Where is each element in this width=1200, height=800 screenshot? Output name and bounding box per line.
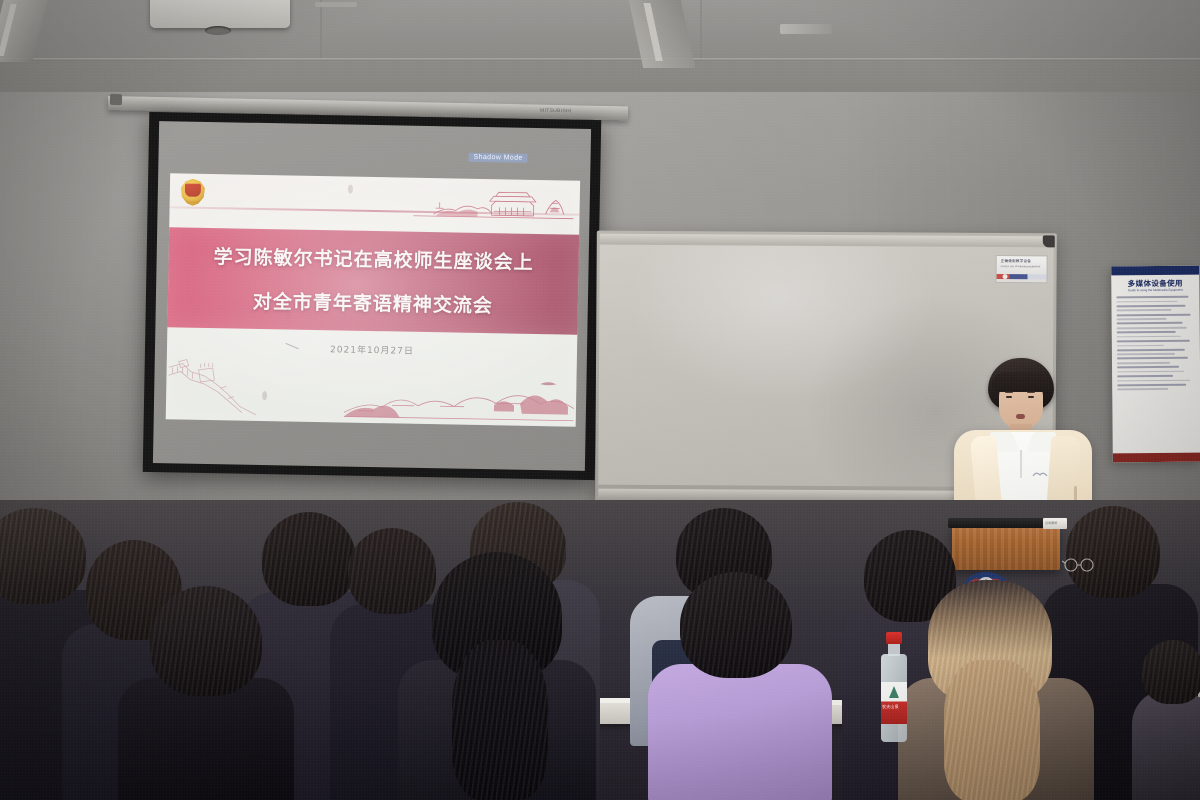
poster-subtitle: Guide to using the Multimedia Equipment	[1111, 288, 1199, 293]
attendee-head	[1142, 640, 1200, 704]
screen-mount-bracket	[110, 94, 122, 105]
screen-brand-label: MITSUBISHI	[540, 108, 572, 115]
attendee-head	[348, 528, 436, 614]
whiteboard-instruction-label: 正确使用教学设备 Correct use of teaching equipme…	[996, 255, 1048, 283]
attendee-head	[680, 572, 792, 678]
attendee-lavender-jacket	[648, 664, 832, 800]
podium-control-panel: 控制面板	[1043, 518, 1067, 529]
projector-screen: Shadow Mode	[143, 112, 602, 480]
attendee-body	[1132, 690, 1200, 800]
attendee-body	[118, 678, 294, 800]
bottle-cap	[886, 632, 902, 644]
eyeglasses-icon	[1062, 556, 1096, 574]
slide-header	[169, 173, 580, 225]
slide-footer	[166, 343, 577, 427]
mountain-landscape-icon	[344, 371, 575, 425]
screen-watermark: Shadow Mode	[468, 153, 527, 163]
ceiling-light-fixture	[780, 24, 832, 34]
great-wall-icon	[168, 353, 289, 417]
ceiling-projector	[150, 0, 290, 28]
attendee-head	[150, 586, 262, 696]
screen-surface: Shadow Mode	[153, 121, 591, 471]
attendee-head	[262, 512, 356, 606]
classroom-photo: MITSUBISHI Shadow Mode	[0, 0, 1200, 800]
podium	[952, 526, 1060, 570]
communist-youth-league-emblem-icon	[180, 178, 206, 205]
poster-body-text	[1116, 296, 1195, 451]
attendee-blonde-hair-length	[944, 660, 1040, 800]
projector-lens-icon	[205, 26, 231, 35]
slide-title-line-1: 学习陈敏尔书记在高校师生座谈会上	[168, 241, 578, 276]
multimedia-equipment-poster: 多媒体设备使用 Guide to using the Multimedia Eq…	[1111, 266, 1200, 463]
attendee-head	[1066, 506, 1160, 598]
presentation-slide: 学习陈敏尔书记在高校师生座谈会上 对全市青年寄语精神交流会 2021年10月27…	[166, 173, 580, 426]
water-bottle: 农夫山泉	[880, 632, 908, 744]
polo-chest-logo-icon	[1032, 470, 1050, 479]
bottle-logo-icon	[889, 686, 899, 698]
slide-title-line-2: 对全市青年寄语精神交流会	[168, 285, 578, 320]
slide-title-band: 学习陈敏尔书记在高校师生座谈会上 对全市青年寄语精神交流会	[167, 227, 579, 334]
tiananmen-gate-icon	[373, 187, 574, 223]
attendee-long-hair	[452, 640, 548, 800]
